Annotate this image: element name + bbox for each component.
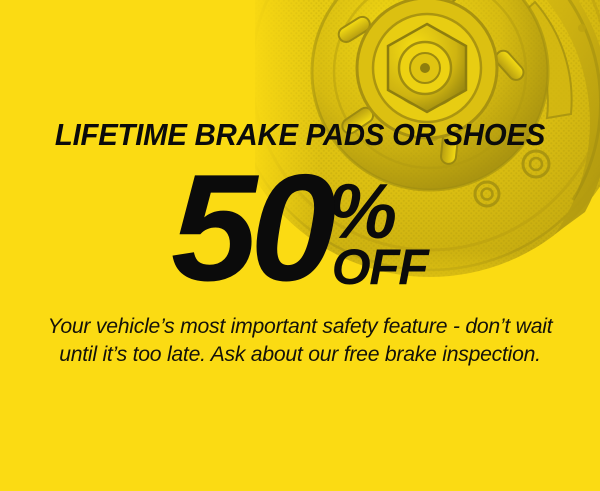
offer-percentage-number: 50 [171,168,329,288]
offer-inner: 50%OFF [171,168,430,290]
offer-block: 50%OFF [0,168,600,290]
offer-off-label: OFF [332,244,427,290]
subtext-line-1: Your vehicle’s most important safety fea… [14,313,586,341]
subtext: Your vehicle’s most important safety fea… [14,313,586,369]
promo-banner[interactable]: LIFETIME BRAKE PADS OR SHOES 50%OFF Your… [0,0,600,491]
offer-suffix: %OFF [328,168,427,290]
percent-sign: % [328,180,427,242]
subtext-line-2: until it’s too late. Ask about our free … [14,341,586,369]
